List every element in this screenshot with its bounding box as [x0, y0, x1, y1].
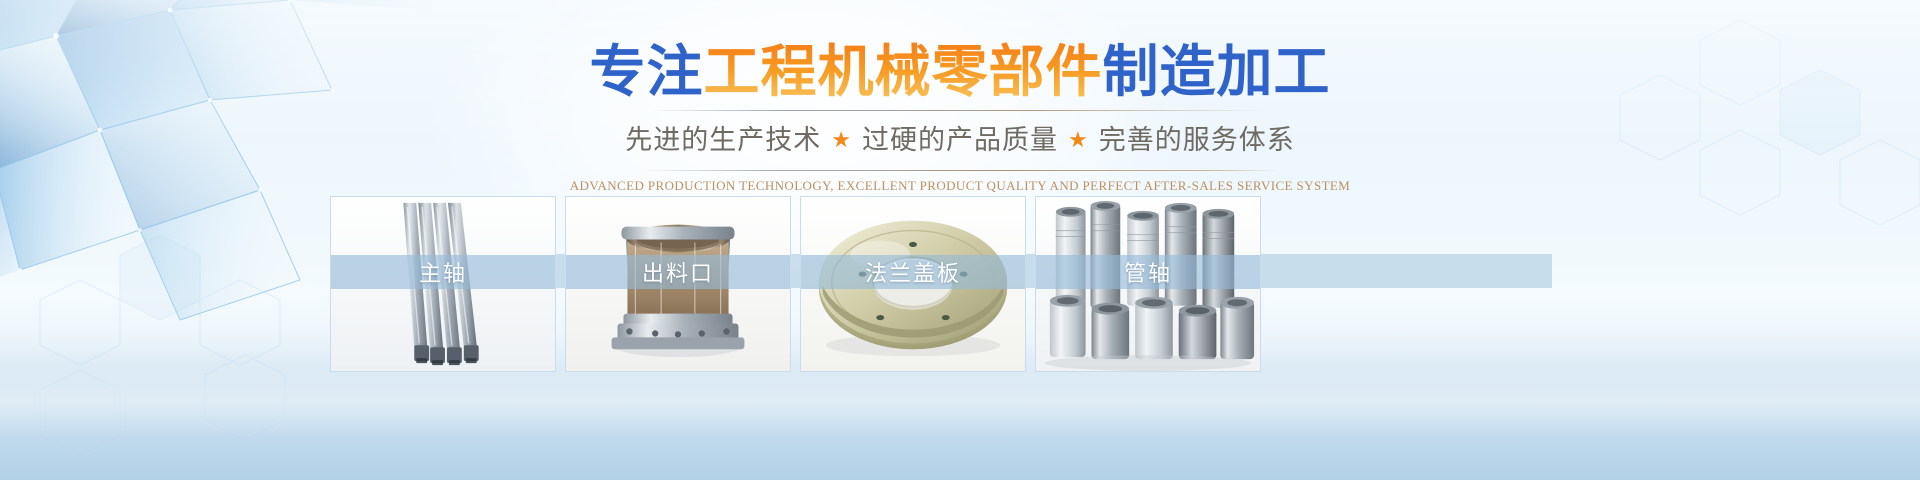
divider-top [650, 110, 1270, 111]
headline-segment-highlight: 工程机械零部件 [704, 42, 1103, 104]
subheadline-item-1: 先进的生产技术 [625, 125, 821, 155]
english-tagline: ADVANCED PRODUCTION TECHNOLOGY, EXCELLEN… [0, 178, 1920, 194]
banner-copy: 专注工程机械零部件制造加工 先进的生产技术★过硬的产品质量★完善的服务体系 AD… [0, 0, 1920, 194]
star-icon: ★ [1068, 127, 1089, 152]
headline-segment-lead: 专注 [590, 42, 704, 104]
hero-banner: 专注工程机械零部件制造加工 先进的生产技术★过硬的产品质量★完善的服务体系 AD… [0, 0, 1920, 480]
product-card-discharge-port[interactable]: 出料口 [565, 196, 791, 372]
product-card-spindle[interactable]: 主轴 [330, 196, 556, 372]
bottom-light-streak [0, 370, 1920, 440]
subheadline-item-3: 完善的服务体系 [1099, 125, 1295, 155]
headline-segment-tail: 制造加工 [1103, 42, 1331, 104]
product-card-tube-shaft[interactable]: 管轴 [1035, 196, 1261, 372]
product-label: 法兰盖板 [801, 255, 1025, 289]
product-card-list: 主轴 [330, 196, 1552, 372]
divider-bottom [640, 170, 1280, 171]
headline: 专注工程机械零部件制造加工 [0, 42, 1920, 104]
subheadline: 先进的生产技术★过硬的产品质量★完善的服务体系 [0, 123, 1920, 159]
product-label: 主轴 [331, 255, 555, 289]
product-label: 管轴 [1036, 255, 1260, 289]
product-card-flange-cover[interactable]: 法兰盖板 [800, 196, 1026, 372]
subheadline-item-2: 过硬的产品质量 [862, 125, 1058, 155]
star-icon: ★ [831, 127, 852, 152]
product-label: 出料口 [566, 255, 790, 289]
